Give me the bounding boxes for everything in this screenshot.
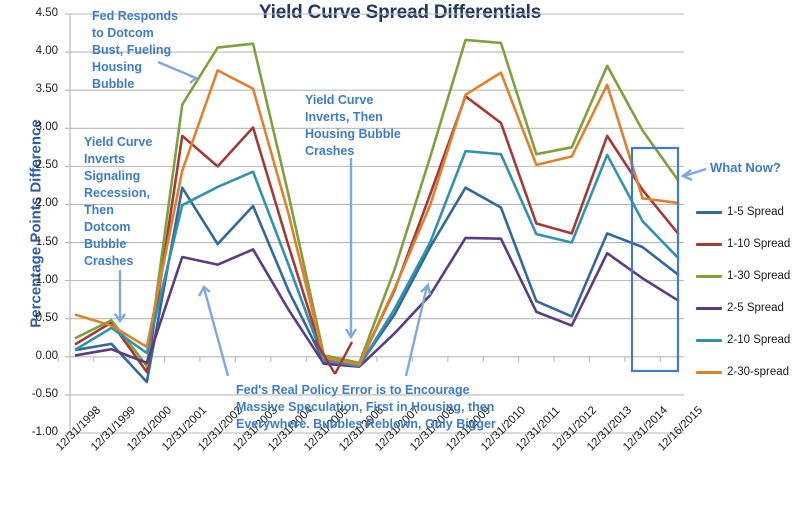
legend-swatch-icon xyxy=(696,307,722,310)
annotation-line: Signaling xyxy=(84,168,184,185)
legend-item[interactable]: 2-5 Spread xyxy=(696,292,800,324)
legend-label: 1-5 Spread xyxy=(727,206,784,218)
legend-swatch-icon xyxy=(696,371,722,374)
annotation-line: Fed's Real Policy Error is to Encourage xyxy=(236,382,576,399)
highlight-box-what-now xyxy=(632,148,678,371)
legend-swatch-icon xyxy=(696,243,722,246)
legend-item[interactable]: 1-30 Spread xyxy=(696,260,800,292)
annotation-line: Yield Curve xyxy=(84,134,184,151)
annotation-line: Inverts, Then xyxy=(305,109,435,126)
annotation-line: Fed Responds xyxy=(92,8,197,25)
legend-label: 2-10 Spread xyxy=(727,334,790,346)
annotation-line: Bubble xyxy=(84,236,184,253)
legend: 1-5 Spread1-10 Spread1-30 Spread2-5 Spre… xyxy=(696,196,800,388)
annotation-line: Massive Speculation, First in Housing, t… xyxy=(236,399,576,416)
annotation-line: Yield Curve xyxy=(305,92,435,109)
legend-label: 2-30-spread xyxy=(727,366,789,378)
legend-item[interactable]: 2-30-spread xyxy=(696,356,800,388)
legend-swatch-icon xyxy=(696,339,722,342)
annotation-line: Housing xyxy=(92,59,197,76)
legend-label: 1-10 Spread xyxy=(727,238,790,250)
annotation-what-now: What Now? xyxy=(710,160,781,175)
legend-item[interactable]: 1-10 Spread xyxy=(696,228,800,260)
legend-item[interactable]: 2-10 Spread xyxy=(696,324,800,356)
annotation-yield-curve-inverts-dotcom: Yield Curve Inverts Signaling Recession,… xyxy=(84,134,184,270)
annotation-yield-curve-inverts-housing: Yield Curve Inverts, Then Housing Bubble… xyxy=(305,92,435,160)
annotation-line: Inverts xyxy=(84,151,184,168)
annotation-line: Crashes xyxy=(84,253,184,270)
annotation-line: Housing Bubble xyxy=(305,126,435,143)
annotation-line: Bust, Fueling xyxy=(92,42,197,59)
arrow-policy-error-right xyxy=(406,286,427,376)
annotation-line: Recession, xyxy=(84,185,184,202)
legend-swatch-icon xyxy=(696,275,722,278)
legend-swatch-icon xyxy=(696,211,722,214)
annotation-policy-error: Fed's Real Policy Error is to Encourage … xyxy=(236,382,576,433)
annotation-line: Then xyxy=(84,202,184,219)
annotation-fed-responds: Fed Responds to Dotcom Bust, Fueling Hou… xyxy=(92,8,197,93)
legend-label: 2-5 Spread xyxy=(727,302,784,314)
annotation-line: Bubble xyxy=(92,76,197,93)
chart-container: Yield Curve Spread Differentials Percent… xyxy=(0,0,800,517)
legend-item[interactable]: 1-5 Spread xyxy=(696,196,800,228)
arrow-policy-error-left xyxy=(204,288,228,376)
annotation-line: Crashes xyxy=(305,143,435,160)
annotation-line: Dotcom xyxy=(84,219,184,236)
legend-label: 1-30 Spread xyxy=(727,270,790,282)
annotation-line: to Dotcom xyxy=(92,25,197,42)
annotation-line: Everywhere. Bubbles Reblown, Only Bigger xyxy=(236,416,576,433)
